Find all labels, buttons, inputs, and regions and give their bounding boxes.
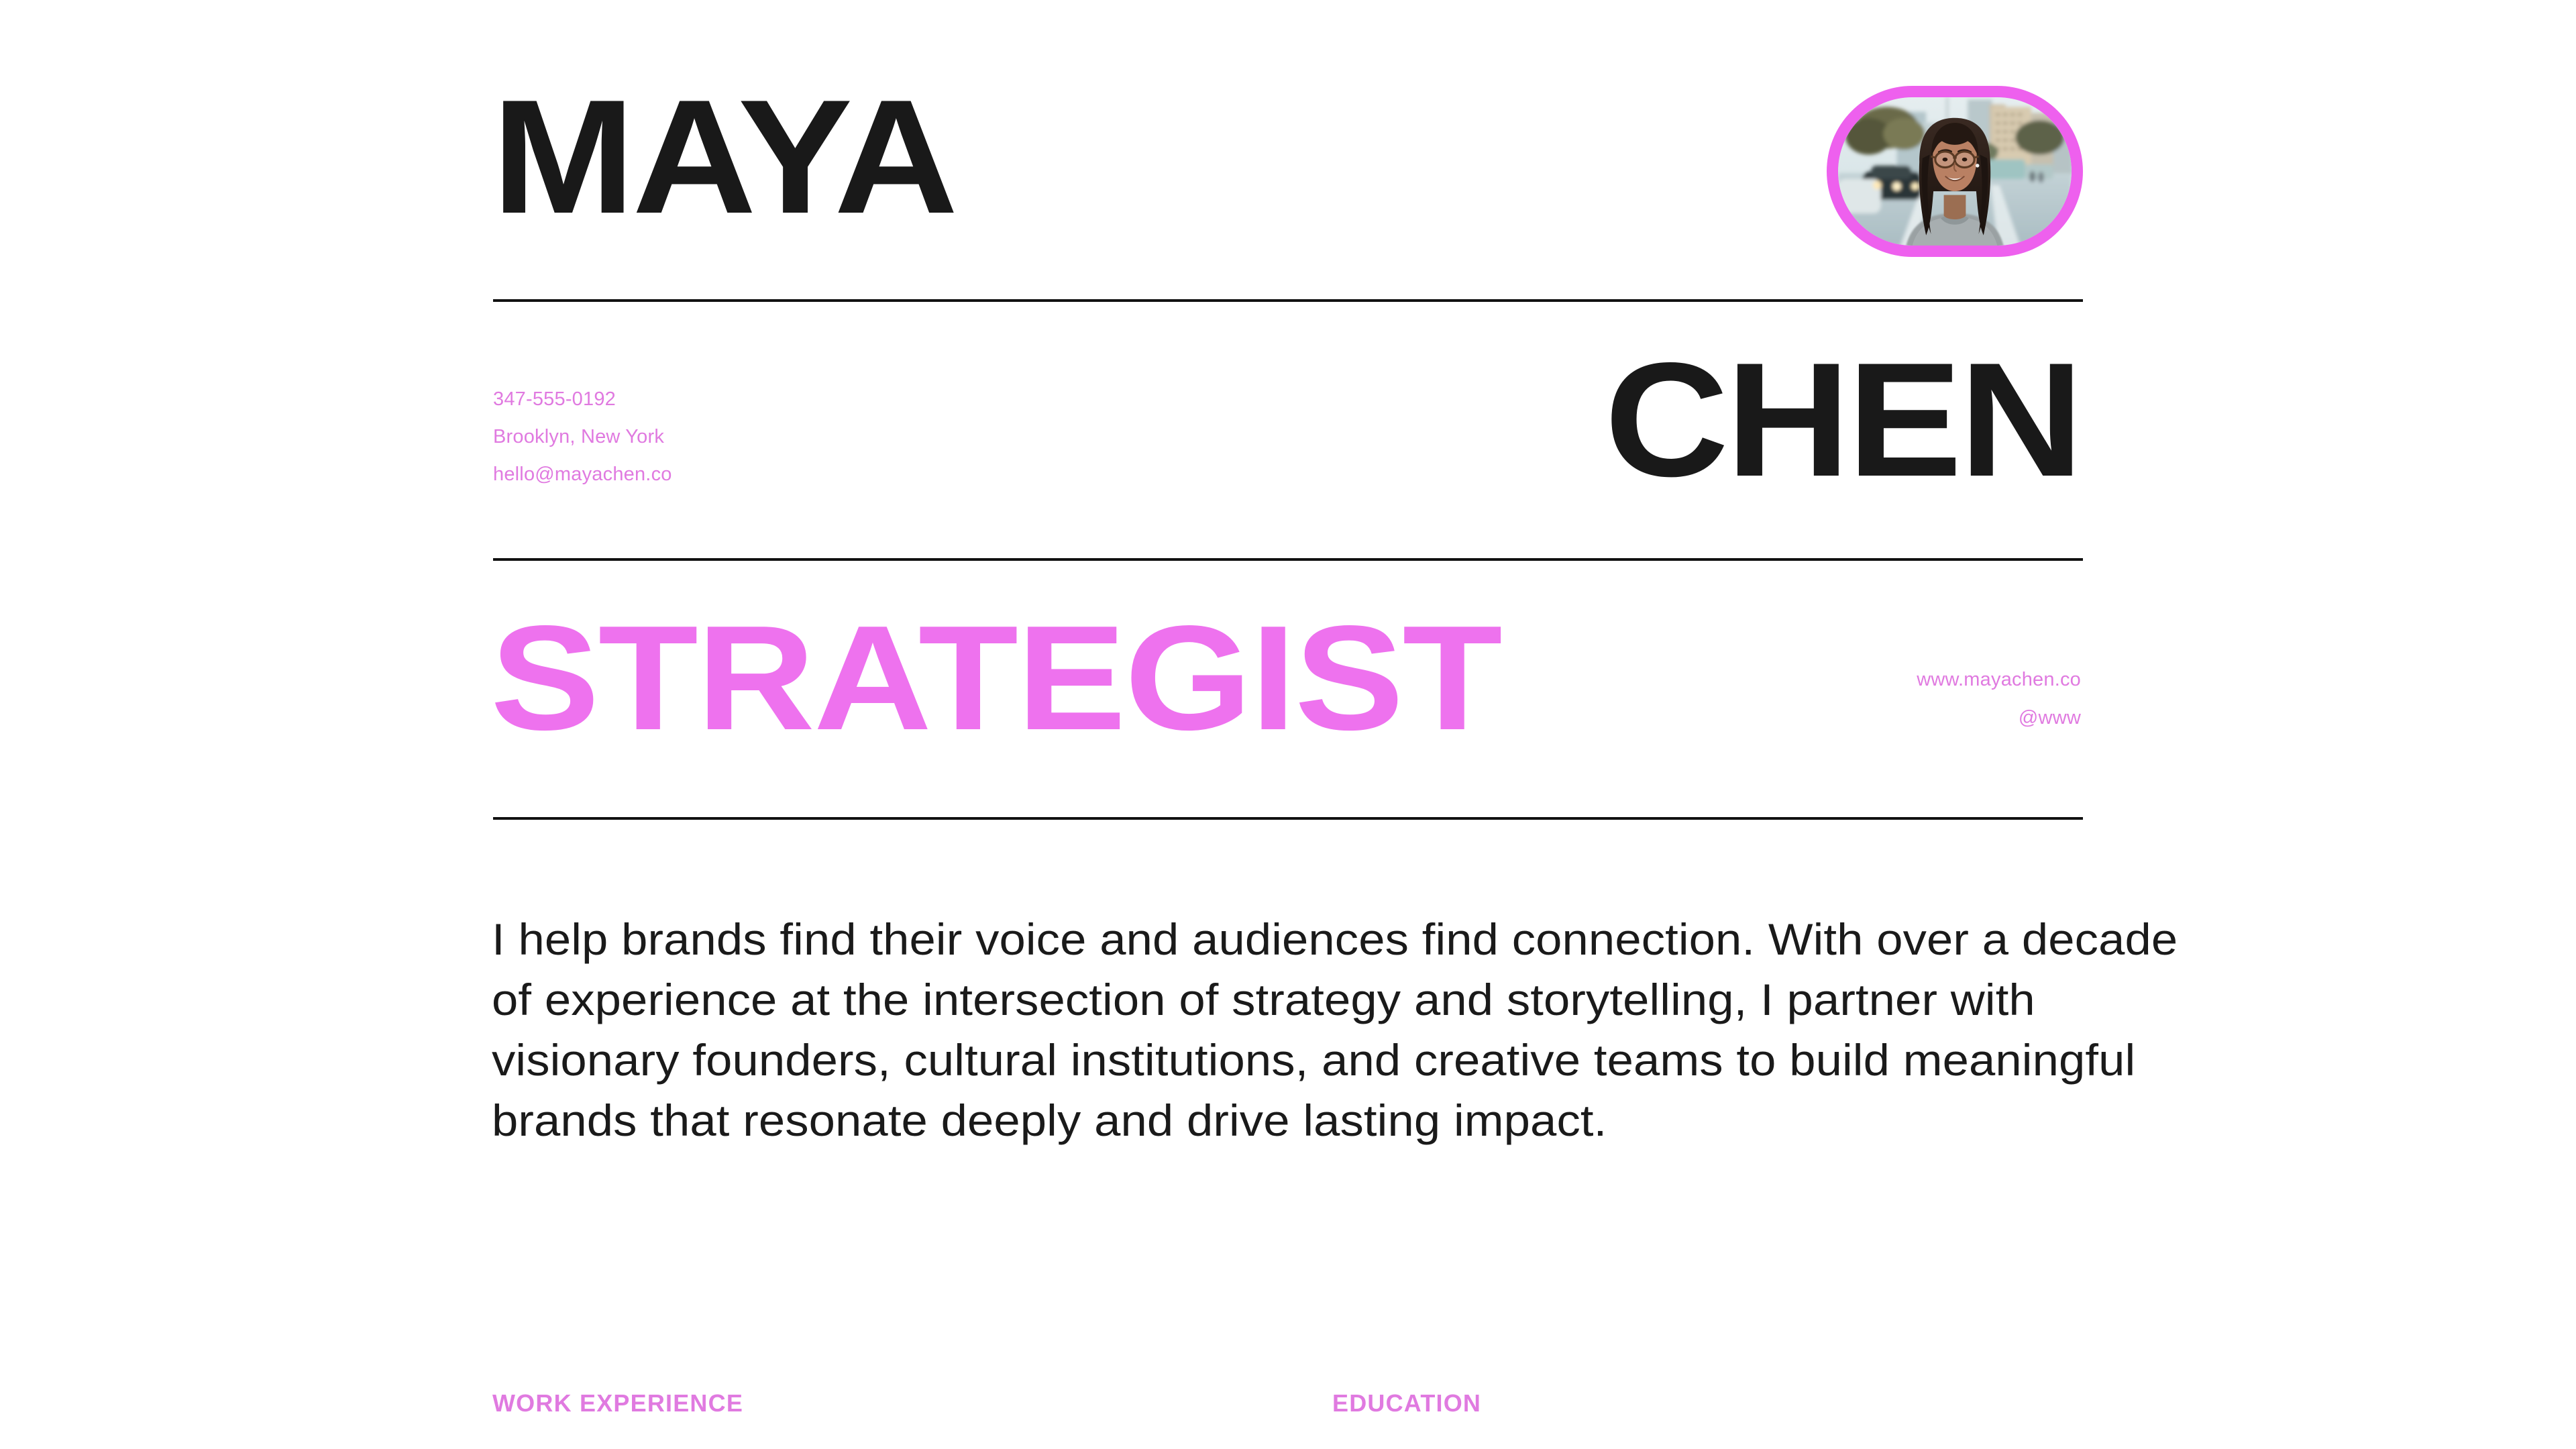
role-title: STRATEGIST bbox=[490, 604, 1501, 753]
contact-location: Brooklyn, New York bbox=[493, 418, 672, 455]
divider-top bbox=[493, 299, 2083, 302]
contact-phone[interactable]: 347-555-0192 bbox=[493, 380, 672, 418]
last-name: CHEN bbox=[1605, 343, 2081, 498]
social-handle[interactable]: @www bbox=[1917, 699, 2081, 737]
summary-paragraph: I help brands find their voice and audie… bbox=[492, 909, 2200, 1150]
section-heading-education: EDUCATION bbox=[1332, 1390, 1481, 1417]
divider-bottom bbox=[493, 817, 2083, 820]
avatar-image bbox=[1838, 97, 2072, 246]
first-name: MAYA bbox=[492, 80, 955, 235]
website-link[interactable]: www.mayachen.co bbox=[1917, 661, 2081, 699]
section-heading-work-experience: WORK EXPERIENCE bbox=[492, 1390, 743, 1417]
contact-block: 347-555-0192 Brooklyn, New York hello@ma… bbox=[493, 380, 672, 493]
web-block: www.mayachen.co @www bbox=[1917, 661, 2081, 737]
resume-page: MAYA 347-555-0192 Brooklyn, New York hel… bbox=[0, 0, 2576, 1449]
divider-middle bbox=[493, 558, 2083, 561]
contact-email[interactable]: hello@mayachen.co bbox=[493, 455, 672, 493]
portrait-photo-icon bbox=[1838, 97, 2072, 246]
avatar bbox=[1827, 86, 2083, 257]
